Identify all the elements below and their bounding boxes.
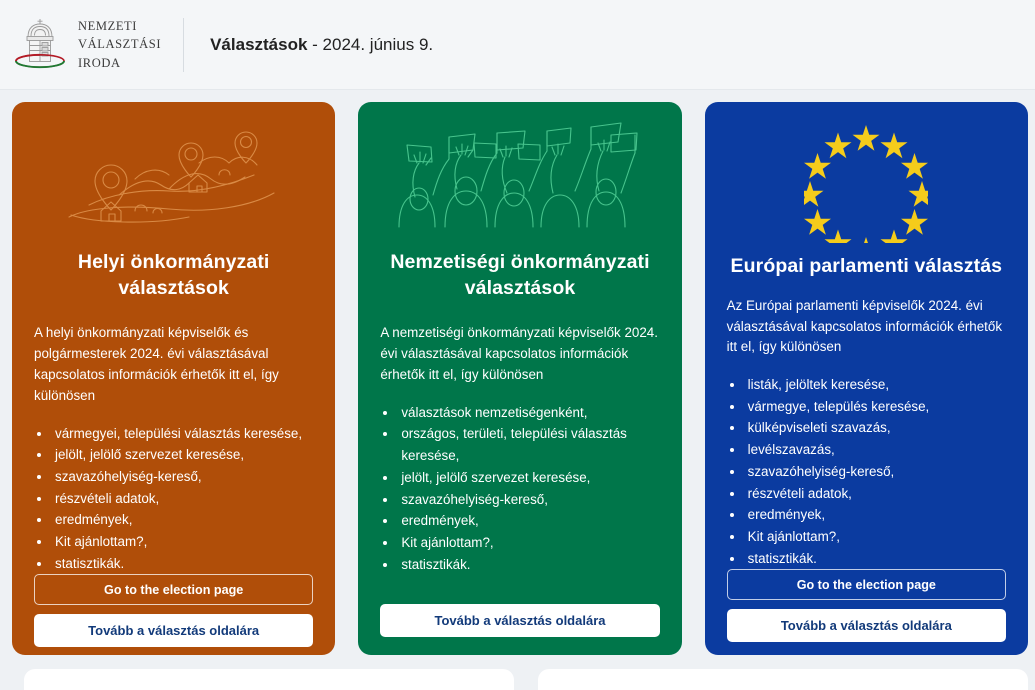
card-title: Európai parlamenti választás [727,254,1006,280]
brand-line-2: VÁLASZTÁSI [78,35,161,53]
secondary-card-right[interactable] [538,669,1028,690]
card-feature-list: választások nemzetiségenként, országos, … [398,402,659,576]
list-item: vármegyei, települési választás keresése… [52,423,313,445]
card-title: Nemzetiségi önkormányzati választások [380,250,659,301]
list-item: részvételi adatok, [745,483,1006,505]
card-title: Helyi önkormányzati választások [34,250,313,301]
page-title-strong: Választások [210,35,307,54]
list-item: eredmények, [52,509,313,531]
crowd-with-flags-icon [380,116,659,234]
card-description: Az Európai parlamenti képviselők 2024. é… [727,296,1006,358]
go-to-election-page-button[interactable]: Go to the election page [727,569,1006,600]
page-title-date: - 2024. június 9. [307,35,433,54]
list-item: statisztikák. [52,553,313,575]
page-title: Választások - 2024. június 9. [210,35,433,55]
tovabb-a-valasztas-oldalara-button[interactable]: Tovább a választás oldalára [380,604,659,637]
list-item: Kit ajánlottam?, [52,531,313,553]
tovabb-a-valasztas-oldalara-button[interactable]: Tovább a választás oldalára [727,609,1006,642]
list-item: szavazóhelyiség-kereső, [398,489,659,511]
list-item: jelölt, jelölő szervezet keresése, [52,444,313,466]
list-item: jelölt, jelölő szervezet keresése, [398,467,659,489]
list-item: választások nemzetiségenként, [398,402,659,424]
brand-line-3: IRODA [78,54,161,72]
card-actions: Go to the election page Tovább a választ… [727,569,1006,655]
card-helyi-onkormanyzati[interactable]: Helyi önkormányzati választások A helyi … [12,102,335,655]
brand-name: NEMZETI VÁLASZTÁSI IRODA [78,17,161,71]
card-nemzetisegi-onkormanyzati[interactable]: Nemzetiségi önkormányzati választások A … [358,102,681,655]
tovabb-a-valasztas-oldalara-button[interactable]: Tovább a választás oldalára [34,614,313,647]
list-item: országos, területi, települési választás… [398,423,659,466]
eu-stars-circle-icon [727,116,1006,246]
nemzeti-valasztasi-iroda-crest-icon [14,15,66,75]
list-item: listák, jelöltek keresése, [745,374,1006,396]
brand-block[interactable]: NEMZETI VÁLASZTÁSI IRODA [14,18,184,72]
go-to-election-page-button[interactable]: Go to the election page [34,574,313,605]
list-item: szavazóhelyiség-kereső, [745,461,1006,483]
card-actions: Tovább a választás oldalára [380,604,659,655]
list-item: Kit ajánlottam?, [745,526,1006,548]
page-header: NEMZETI VÁLASZTÁSI IRODA Választások - 2… [0,0,1035,90]
card-feature-list: vármegyei, települési választás keresése… [52,423,313,575]
brand-line-1: NEMZETI [78,17,161,35]
list-item: statisztikák. [745,548,1006,570]
list-item: statisztikák. [398,554,659,576]
list-item: eredmények, [745,504,1006,526]
card-description: A helyi önkormányzati képviselők és polg… [34,323,313,406]
card-actions: Go to the election page Tovább a választ… [34,574,313,655]
list-item: szavazóhelyiség-kereső, [52,466,313,488]
list-item: Kit ajánlottam?, [398,532,659,554]
secondary-card-left[interactable] [24,669,514,690]
secondary-cards-row [0,655,1035,690]
list-item: eredmények, [398,510,659,532]
list-item: vármegye, település keresése, [745,396,1006,418]
card-feature-list: listák, jelöltek keresése, vármegye, tel… [745,374,1006,569]
list-item: részvételi adatok, [52,488,313,510]
landscape-with-map-pins-icon [34,116,313,234]
list-item: külképviseleti szavazás, [745,417,1006,439]
card-europai-parlamenti[interactable]: Európai parlamenti választás Az Európai … [705,102,1028,655]
list-item: levélszavazás, [745,439,1006,461]
card-description: A nemzetiségi önkormányzati képviselők 2… [380,323,659,385]
election-cards-row: Helyi önkormányzati választások A helyi … [0,90,1035,655]
